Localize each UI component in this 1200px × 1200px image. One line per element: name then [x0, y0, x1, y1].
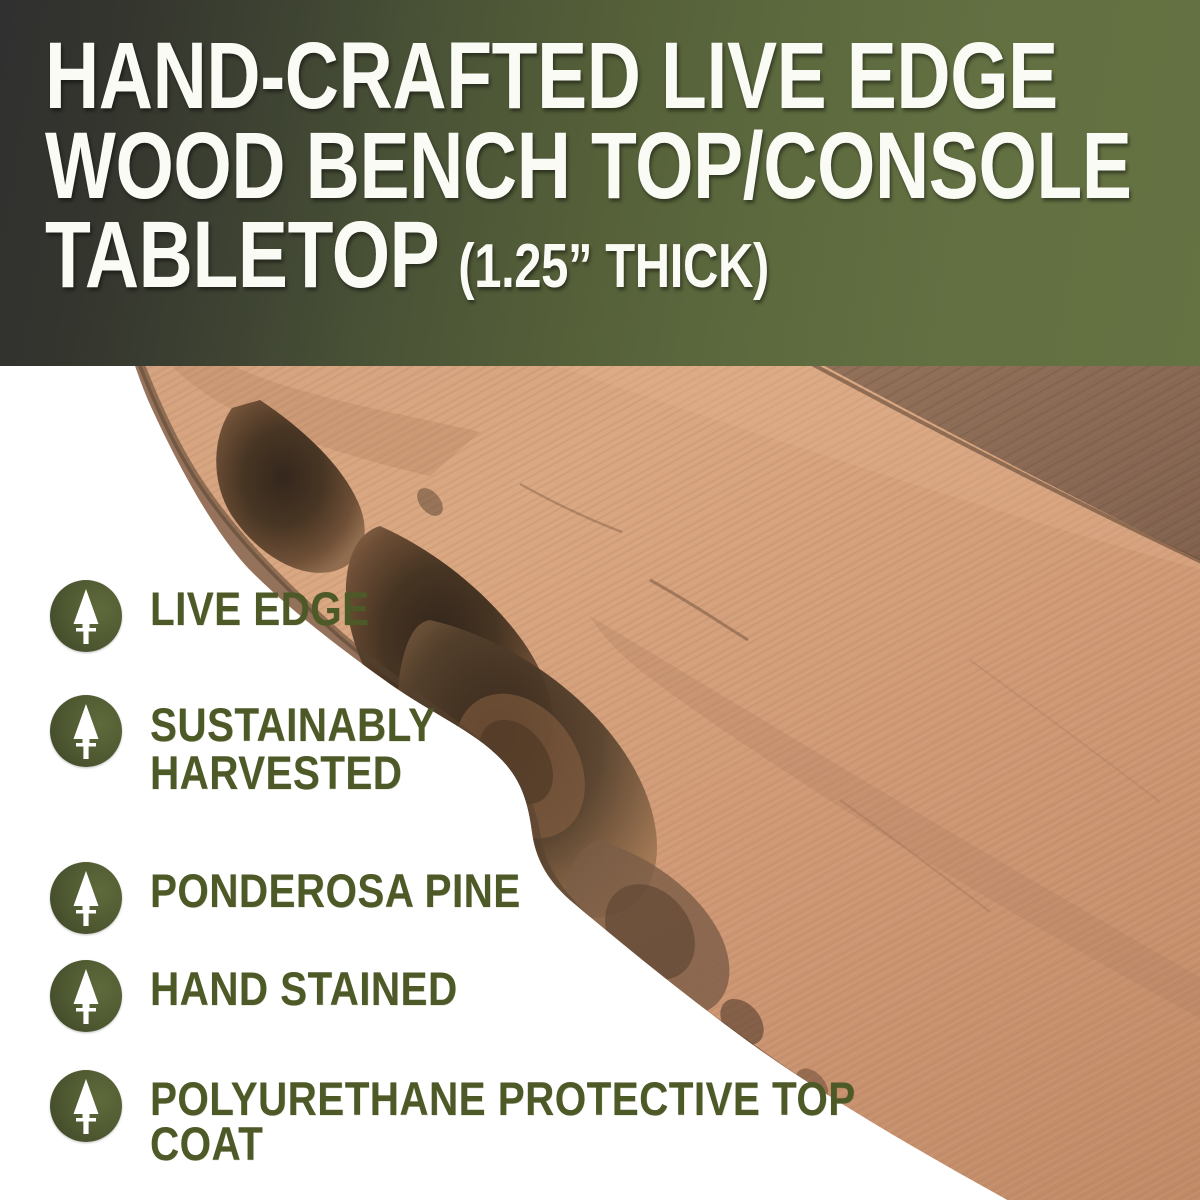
pine-tree-glyph — [50, 862, 122, 934]
feature-item-polyurethane-top-coat: POLYURETHANE PROTECTIVE TOP COAT — [50, 1070, 1010, 1166]
feature-label: HAND STAINED — [150, 960, 458, 1011]
pine-tree-glyph — [50, 1070, 122, 1142]
pine-tree-icon — [50, 960, 122, 1032]
title-banner: HAND-CRAFTED LIVE EDGE WOOD BENCH TOP/CO… — [0, 0, 1200, 366]
pine-tree-glyph — [50, 580, 122, 652]
pine-tree-icon — [50, 580, 122, 652]
pine-tree-icon — [50, 862, 122, 934]
product-infographic: HAND-CRAFTED LIVE EDGE WOOD BENCH TOP/CO… — [0, 0, 1200, 1200]
feature-label: PONDEROSA PINE — [150, 862, 521, 913]
title-line-1: HAND-CRAFTED LIVE EDGE — [45, 36, 934, 118]
pine-tree-icon — [50, 695, 122, 767]
pine-tree-icon — [50, 1070, 122, 1142]
title-thickness-note: (1.25” THICK) — [458, 232, 769, 301]
feature-label: POLYURETHANE PROTECTIVE TOP COAT — [150, 1070, 890, 1166]
pine-tree-glyph — [50, 960, 122, 1032]
feature-label: LIVE EDGE — [150, 580, 370, 631]
feature-item-sustainably-harvested: SUSTAINABLY HARVESTED — [50, 695, 482, 797]
pine-tree-glyph — [50, 695, 122, 767]
feature-label: SUSTAINABLY HARVESTED — [150, 695, 435, 797]
feature-item-ponderosa-pine: PONDEROSA PINE — [50, 862, 581, 934]
title-line-3-main: TABLETOP — [45, 202, 439, 308]
title-line-3: TABLETOP(1.25” THICK) — [45, 215, 934, 297]
feature-item-live-edge: LIVE EDGE — [50, 580, 405, 652]
title-line-2: WOOD BENCH TOP/CONSOLE — [45, 126, 934, 208]
feature-item-hand-stained: HAND STAINED — [50, 960, 508, 1032]
